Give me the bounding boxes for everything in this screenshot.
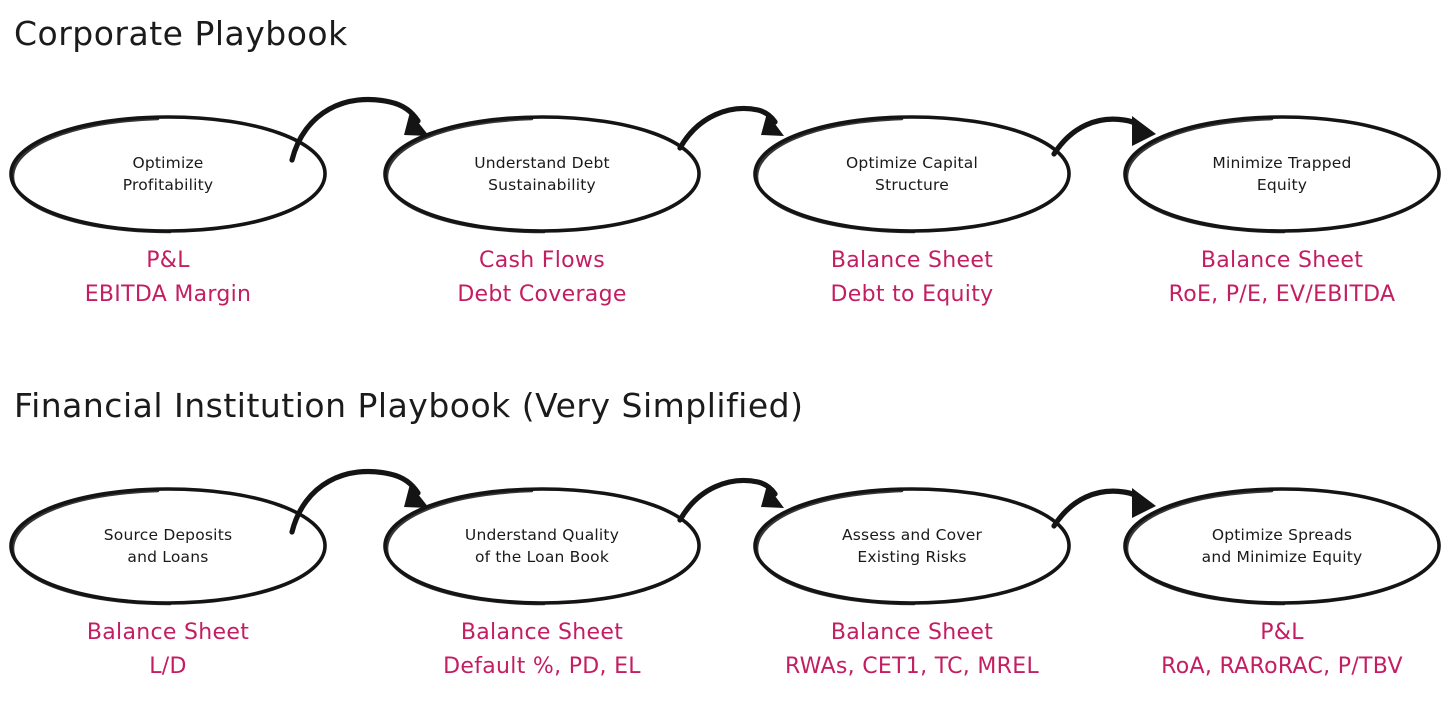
flow-node-caption: Cash Flows Debt Coverage [362, 244, 722, 312]
flow-node-label: Optimize Spreads and Minimize Equity [1148, 486, 1416, 606]
flow-node-minimize-trapped-equity[interactable]: Minimize Trapped Equity Balance Sheet Ro… [1122, 86, 1442, 326]
label-line: Understand Quality [465, 524, 619, 546]
flow-node-label: Optimize Profitability [34, 114, 302, 234]
caption-line: P&L [1102, 616, 1456, 650]
caption-line: Balance Sheet [732, 616, 1092, 650]
flow-row-financial: Source Deposits and Loans Balance Sheet … [0, 458, 1456, 698]
caption-line: Cash Flows [362, 244, 722, 278]
section-title-corporate: Corporate Playbook [14, 14, 348, 53]
caption-line: Balance Sheet [362, 616, 722, 650]
caption-line: Balance Sheet [0, 616, 348, 650]
label-line: Sustainability [488, 174, 596, 196]
label-line: Structure [875, 174, 949, 196]
ellipse-shape: Understand Debt Sustainability [382, 114, 702, 234]
flow-node-optimize-profitability[interactable]: Optimize Profitability P&L EBITDA Margin [8, 86, 328, 326]
flow-node-caption: P&L EBITDA Margin [0, 244, 348, 312]
caption-line: Debt Coverage [362, 278, 722, 312]
ellipse-shape: Source Deposits and Loans [8, 486, 328, 606]
label-line: Equity [1257, 174, 1307, 196]
caption-line: Debt to Equity [732, 278, 1092, 312]
flow-node-label: Assess and Cover Existing Risks [778, 486, 1046, 606]
flow-node-caption: Balance Sheet RoE, P/E, EV/EBITDA [1102, 244, 1456, 312]
flow-node-label: Understand Debt Sustainability [408, 114, 676, 234]
label-line: Profitability [123, 174, 214, 196]
flow-node-label: Minimize Trapped Equity [1148, 114, 1416, 234]
ellipse-shape: Minimize Trapped Equity [1122, 114, 1442, 234]
label-line: Understand Debt [474, 152, 610, 174]
flow-node-assess-and-cover-existing-risks[interactable]: Assess and Cover Existing Risks Balance … [752, 458, 1072, 698]
label-line: and Minimize Equity [1202, 546, 1363, 568]
label-line: Assess and Cover [842, 524, 982, 546]
flow-node-label: Optimize Capital Structure [778, 114, 1046, 234]
flow-node-caption: Balance Sheet Debt to Equity [732, 244, 1092, 312]
label-line: Optimize Spreads [1212, 524, 1352, 546]
ellipse-shape: Optimize Spreads and Minimize Equity [1122, 486, 1442, 606]
flow-node-caption: Balance Sheet Default %, PD, EL [362, 616, 722, 684]
flow-node-caption: Balance Sheet L/D [0, 616, 348, 684]
caption-line: RoE, P/E, EV/EBITDA [1102, 278, 1456, 312]
flow-node-optimize-spreads-and-minimize-equity[interactable]: Optimize Spreads and Minimize Equity P&L… [1122, 458, 1442, 698]
caption-line: RWAs, CET1, TC, MREL [732, 650, 1092, 684]
label-line: Optimize Capital [846, 152, 978, 174]
flow-node-understand-debt-sustainability[interactable]: Understand Debt Sustainability Cash Flow… [382, 86, 702, 326]
ellipse-shape: Understand Quality of the Loan Book [382, 486, 702, 606]
flow-node-caption: Balance Sheet RWAs, CET1, TC, MREL [732, 616, 1092, 684]
ellipse-shape: Optimize Profitability [8, 114, 328, 234]
flow-row-corporate: Optimize Profitability P&L EBITDA Margin… [0, 86, 1456, 326]
caption-line: EBITDA Margin [0, 278, 348, 312]
caption-line: Balance Sheet [732, 244, 1092, 278]
caption-line: L/D [0, 650, 348, 684]
label-line: Source Deposits [104, 524, 233, 546]
flow-node-source-deposits-and-loans[interactable]: Source Deposits and Loans Balance Sheet … [8, 458, 328, 698]
ellipse-shape: Optimize Capital Structure [752, 114, 1072, 234]
caption-line: P&L [0, 244, 348, 278]
label-line: and Loans [127, 546, 208, 568]
caption-line: Balance Sheet [1102, 244, 1456, 278]
label-line: Minimize Trapped [1212, 152, 1351, 174]
label-line: Existing Risks [857, 546, 966, 568]
flow-node-caption: P&L RoA, RARoRAC, P/TBV [1102, 616, 1456, 684]
label-line: of the Loan Book [475, 546, 609, 568]
flow-node-optimize-capital-structure[interactable]: Optimize Capital Structure Balance Sheet… [752, 86, 1072, 326]
label-line: Optimize [132, 152, 203, 174]
flow-node-label: Source Deposits and Loans [34, 486, 302, 606]
ellipse-shape: Assess and Cover Existing Risks [752, 486, 1072, 606]
flow-node-label: Understand Quality of the Loan Book [408, 486, 676, 606]
caption-line: Default %, PD, EL [362, 650, 722, 684]
caption-line: RoA, RARoRAC, P/TBV [1102, 650, 1456, 684]
flow-node-understand-quality-of-loan-book[interactable]: Understand Quality of the Loan Book Bala… [382, 458, 702, 698]
section-title-financial: Financial Institution Playbook (Very Sim… [14, 386, 803, 425]
